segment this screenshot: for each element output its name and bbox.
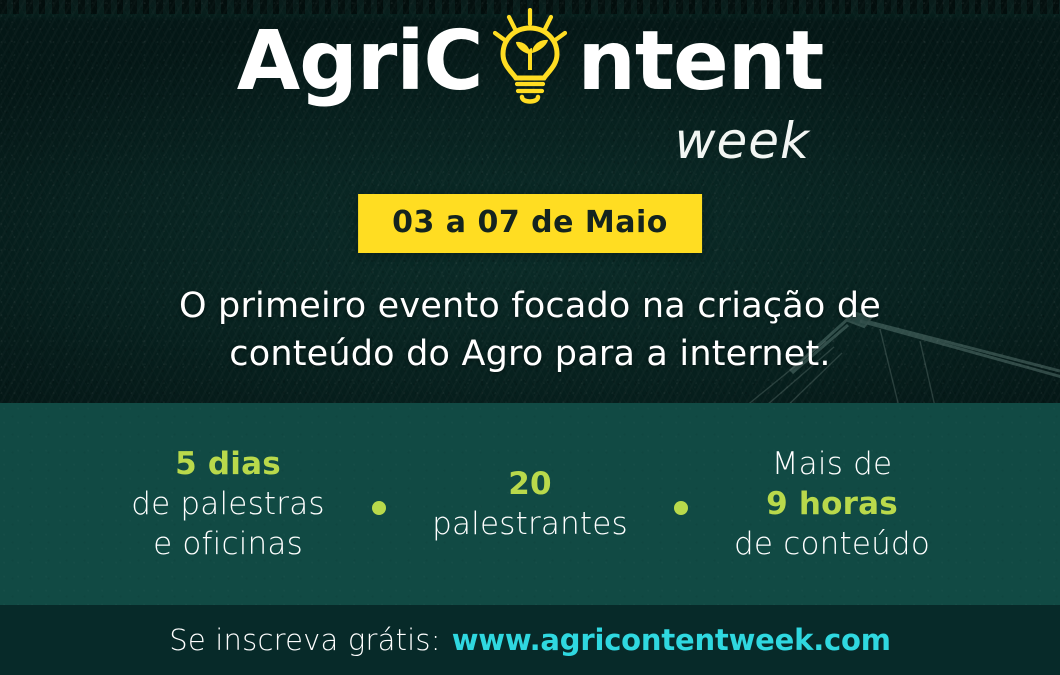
stat-speakers-value: 20 [415,464,645,504]
stat-hours: Mais de 9 horas de conteúdo [717,444,947,564]
logo-subtext-week: week [675,112,810,170]
stats-row: 5 dias de palestras e oficinas 20 palest… [0,403,1060,605]
lightbulb-sprout-icon [487,16,573,108]
bullet-dot-icon [674,501,688,515]
logo-text-ntent: ntent [578,14,824,109]
stat-hours-label-1: Mais de [717,444,947,484]
logo-text-agric: AgriC [237,14,483,109]
stat-separator-1 [343,403,415,605]
stat-days-label-1: de palestras [113,484,343,524]
headline-line-2: conteúdo do Agro para a internet. [0,330,1060,378]
stat-hours-label-2: de conteúdo [717,524,947,564]
stat-days-value: 5 dias [113,444,343,484]
cta-website-url[interactable]: www.agricontentweek.com [452,623,891,657]
logo-wordmark: AgriC [237,16,824,108]
stat-hours-value: 9 horas [717,484,947,524]
headline: O primeiro evento focado na criação de c… [0,282,1060,378]
event-date-badge: 03 a 07 de Maio [358,194,702,253]
cta-signup: Se inscreva grátis: www.agricontentweek.… [0,605,1060,675]
brand-logo: AgriC [0,16,1060,166]
stat-speakers-label: palestrantes [415,504,645,544]
stat-separator-2 [645,403,717,605]
agricontent-week-banner: AgriC [0,0,1060,675]
headline-line-1: O primeiro evento focado na criação de [0,282,1060,330]
stat-speakers: 20 palestrantes [415,464,645,544]
bullet-dot-icon [372,501,386,515]
stat-days-label-2: e oficinas [113,524,343,564]
cta-prefix-label: Se inscreva grátis: [169,623,440,657]
stat-days: 5 dias de palestras e oficinas [113,444,343,564]
